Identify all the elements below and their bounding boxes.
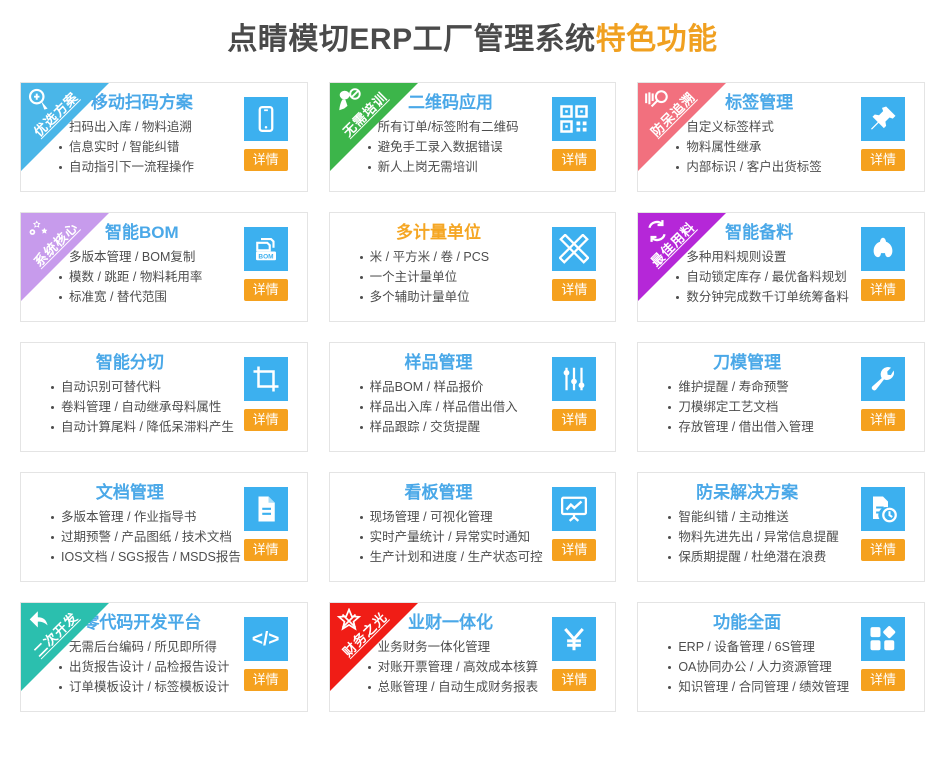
sliders-icon bbox=[552, 357, 596, 401]
detail-button[interactable]: 详情 bbox=[244, 409, 288, 431]
svg-text:BOM: BOM bbox=[258, 254, 273, 261]
feature-card: 智能分切自动识别可替代料卷料管理 / 自动继承母料属性自动计算尾料 / 降低呆滞… bbox=[20, 342, 308, 452]
card-title: 文档管理 bbox=[96, 482, 164, 504]
feature-page: 点睛模切ERP工厂管理系统特色功能 优选方案移动扫码方案扫码出入库 / 物料追溯… bbox=[0, 0, 945, 769]
list-item: 出货报告设计 / 品检报告设计 bbox=[59, 657, 229, 677]
mobile-phone-icon bbox=[244, 97, 288, 141]
card-aside: 详情 bbox=[545, 227, 603, 301]
list-item: 业务财务一体化管理 bbox=[368, 637, 538, 657]
detail-button[interactable]: 详情 bbox=[552, 149, 596, 171]
list-item: 信息实时 / 智能纠错 bbox=[59, 137, 194, 157]
list-item: 内部标识 / 客户出货标签 bbox=[676, 157, 821, 177]
list-item: 无需后台编码 / 所见即所得 bbox=[59, 637, 229, 657]
list-item: 知识管理 / 合同管理 / 绩效管理 bbox=[668, 677, 849, 697]
list-item: 自动计算尾料 / 降低呆滞料产生 bbox=[51, 417, 234, 437]
card-feature-list: 业务财务一体化管理对账开票管理 / 高效成本核算总账管理 / 自动生成财务报表 bbox=[368, 637, 538, 697]
list-item: 一个主计量单位 bbox=[360, 267, 489, 287]
card-feature-list: 自动识别可替代料卷料管理 / 自动继承母料属性自动计算尾料 / 降低呆滞料产生 bbox=[51, 377, 234, 437]
list-item: 自动锁定库存 / 最优备料规划 bbox=[676, 267, 849, 287]
detail-button[interactable]: 详情 bbox=[552, 409, 596, 431]
card-aside: 详情 bbox=[854, 97, 912, 171]
card-feature-list: 多版本管理 / BOM复制模数 / 跳距 / 物料耗用率标准宽 / 替代范围 bbox=[59, 247, 202, 307]
card-title: 智能分切 bbox=[96, 352, 164, 374]
list-item: 样品BOM / 样品报价 bbox=[360, 377, 518, 397]
list-item: ERP / 设备管理 / 6S管理 bbox=[668, 637, 849, 657]
card-aside: </>详情 bbox=[237, 617, 295, 691]
list-item: 总账管理 / 自动生成财务报表 bbox=[368, 677, 538, 697]
list-item: 物料属性继承 bbox=[676, 137, 821, 157]
yen-currency-icon bbox=[552, 617, 596, 661]
card-title: 二维码应用 bbox=[408, 92, 493, 114]
list-item: 存放管理 / 借出借入管理 bbox=[668, 417, 813, 437]
list-item: 多版本管理 / BOM复制 bbox=[59, 247, 202, 267]
feature-card: 看板管理现场管理 / 可视化管理实时产量统计 / 异常实时通知生产计划和进度 /… bbox=[329, 472, 617, 582]
list-item: 数分钟完成数千订单统筹备料 bbox=[676, 287, 849, 307]
card-aside: 详情 bbox=[237, 357, 295, 431]
page-title-accent: 特色功能 bbox=[596, 23, 718, 56]
list-item: 智能纠错 / 主动推送 bbox=[668, 507, 838, 527]
wrench-icon bbox=[861, 357, 905, 401]
list-item: 订单模板设计 / 标签模板设计 bbox=[59, 677, 229, 697]
card-title: 看板管理 bbox=[404, 482, 472, 504]
card-feature-list: 所有订单/标签附有二维码避免手工录入数据错误新人上岗无需培训 bbox=[368, 117, 519, 177]
page-title-main: 点睛模切ERP工厂管理系统 bbox=[227, 23, 595, 56]
list-item: 米 / 平方米 / 卷 / PCS bbox=[360, 247, 489, 267]
card-feature-list: ERP / 设备管理 / 6S管理OA协同办公 / 人力资源管理知识管理 / 合… bbox=[668, 637, 849, 697]
list-item: 物料先进先出 / 异常信息提醒 bbox=[668, 527, 838, 547]
feature-card: 样品管理样品BOM / 样品报价样品出入库 / 样品借出借入样品跟踪 / 交货提… bbox=[329, 342, 617, 452]
crop-tool-icon bbox=[244, 357, 288, 401]
list-item: 所有订单/标签附有二维码 bbox=[368, 117, 519, 137]
card-title: 多计量单位 bbox=[396, 222, 481, 244]
detail-button[interactable]: 详情 bbox=[552, 669, 596, 691]
list-item: 多版本管理 / 作业指导书 bbox=[51, 507, 241, 527]
dashboard-board-icon bbox=[552, 487, 596, 531]
card-aside: 详情 bbox=[854, 487, 912, 561]
list-item: 多种用料规则设置 bbox=[676, 247, 849, 267]
card-title: 样品管理 bbox=[404, 352, 472, 374]
list-item: 刀模绑定工艺文档 bbox=[668, 397, 813, 417]
card-feature-list: 多版本管理 / 作业指导书过期预警 / 产品图纸 / 技术文档IOS文档 / S… bbox=[51, 507, 241, 567]
detail-button[interactable]: 详情 bbox=[861, 279, 905, 301]
list-item: 新人上岗无需培训 bbox=[368, 157, 519, 177]
card-title: 业财一体化 bbox=[408, 612, 493, 634]
feature-card-grid: 优选方案移动扫码方案扫码出入库 / 物料追溯信息实时 / 智能纠错自动指引下一流… bbox=[0, 82, 945, 712]
material-prep-icon bbox=[861, 227, 905, 271]
list-item: 多个辅助计量单位 bbox=[360, 287, 489, 307]
card-feature-list: 米 / 平方米 / 卷 / PCS一个主计量单位多个辅助计量单位 bbox=[360, 247, 489, 307]
list-item: 避免手工录入数据错误 bbox=[368, 137, 519, 157]
card-feature-list: 自定义标签样式物料属性继承内部标识 / 客户出货标签 bbox=[676, 117, 821, 177]
crossed-rulers-icon bbox=[552, 227, 596, 271]
list-item: 扫码出入库 / 物料追溯 bbox=[59, 117, 194, 137]
list-item: 生产计划和进度 / 生产状态可控 bbox=[360, 547, 543, 567]
card-title: 零代码开发平台 bbox=[82, 612, 201, 634]
card-aside: 详情 bbox=[545, 487, 603, 561]
modules-grid-icon bbox=[861, 617, 905, 661]
card-feature-list: 扫码出入库 / 物料追溯信息实时 / 智能纠错自动指引下一流程操作 bbox=[59, 117, 194, 177]
list-item: 标准宽 / 替代范围 bbox=[59, 287, 202, 307]
card-title: 刀模管理 bbox=[713, 352, 781, 374]
card-feature-list: 维护提醒 / 寿命预警刀模绑定工艺文档存放管理 / 借出借入管理 bbox=[668, 377, 813, 437]
card-aside: BOM详情 bbox=[237, 227, 295, 301]
detail-button[interactable]: 详情 bbox=[861, 149, 905, 171]
detail-button[interactable]: 详情 bbox=[244, 669, 288, 691]
bom-document-icon: BOM bbox=[244, 227, 288, 271]
feature-card: 刀模管理维护提醒 / 寿命预警刀模绑定工艺文档存放管理 / 借出借入管理详情 bbox=[637, 342, 925, 452]
list-item: 现场管理 / 可视化管理 bbox=[360, 507, 543, 527]
list-item: 自动识别可替代料 bbox=[51, 377, 234, 397]
card-aside: 详情 bbox=[545, 97, 603, 171]
card-feature-list: 样品BOM / 样品报价样品出入库 / 样品借出借入样品跟踪 / 交货提醒 bbox=[360, 377, 518, 437]
feature-card: 防呆解决方案智能纠错 / 主动推送物料先进先出 / 异常信息提醒保质期提醒 / … bbox=[637, 472, 925, 582]
detail-button[interactable]: 详情 bbox=[552, 279, 596, 301]
feature-card: 防呆追溯标签管理自定义标签样式物料属性继承内部标识 / 客户出货标签详情 bbox=[637, 82, 925, 192]
detail-button[interactable]: 详情 bbox=[861, 669, 905, 691]
list-item: 模数 / 跳距 / 物料耗用率 bbox=[59, 267, 202, 287]
card-title: 标签管理 bbox=[725, 92, 793, 114]
feature-card: 文档管理多版本管理 / 作业指导书过期预警 / 产品图纸 / 技术文档IOS文档… bbox=[20, 472, 308, 582]
card-aside: 详情 bbox=[854, 357, 912, 431]
list-item: 维护提醒 / 寿命预警 bbox=[668, 377, 813, 397]
page-title: 点睛模切ERP工厂管理系统特色功能 bbox=[0, 0, 945, 58]
qr-code-icon bbox=[552, 97, 596, 141]
list-item: OA协同办公 / 人力资源管理 bbox=[668, 657, 849, 677]
detail-button[interactable]: 详情 bbox=[861, 539, 905, 561]
card-aside: 详情 bbox=[237, 97, 295, 171]
card-title: 移动扫码方案 bbox=[91, 92, 193, 114]
list-item: 样品出入库 / 样品借出借入 bbox=[360, 397, 518, 417]
list-item: 样品跟踪 / 交货提醒 bbox=[360, 417, 518, 437]
card-feature-list: 无需后台编码 / 所见即所得出货报告设计 / 品检报告设计订单模板设计 / 标签… bbox=[59, 637, 229, 697]
list-item: 对账开票管理 / 高效成本核算 bbox=[368, 657, 538, 677]
detail-button[interactable]: 详情 bbox=[861, 409, 905, 431]
list-item: IOS文档 / SGS报告 / MSDS报告 bbox=[51, 547, 241, 567]
card-feature-list: 多种用料规则设置自动锁定库存 / 最优备料规划数分钟完成数千订单统筹备料 bbox=[676, 247, 849, 307]
feature-card: 无需培训二维码应用所有订单/标签附有二维码避免手工录入数据错误新人上岗无需培训详… bbox=[329, 82, 617, 192]
card-aside: 详情 bbox=[854, 617, 912, 691]
list-item: 保质期提醒 / 杜绝潜在浪费 bbox=[668, 547, 838, 567]
feature-card: 多计量单位米 / 平方米 / 卷 / PCS一个主计量单位多个辅助计量单位详情 bbox=[329, 212, 617, 322]
detail-button[interactable]: 详情 bbox=[244, 149, 288, 171]
card-aside: 详情 bbox=[854, 227, 912, 301]
card-title: 功能全面 bbox=[713, 612, 781, 634]
card-title: 智能BOM bbox=[105, 222, 179, 244]
card-title: 防呆解决方案 bbox=[696, 482, 798, 504]
card-aside: 详情 bbox=[545, 617, 603, 691]
feature-card: 功能全面ERP / 设备管理 / 6S管理OA协同办公 / 人力资源管理知识管理… bbox=[637, 602, 925, 712]
detail-button[interactable]: 详情 bbox=[244, 539, 288, 561]
card-feature-list: 现场管理 / 可视化管理实时产量统计 / 异常实时通知生产计划和进度 / 生产状… bbox=[360, 507, 543, 567]
feature-card: 财务之光业财一体化业务财务一体化管理对账开票管理 / 高效成本核算总账管理 / … bbox=[329, 602, 617, 712]
push-pin-icon bbox=[861, 97, 905, 141]
detail-button[interactable]: 详情 bbox=[552, 539, 596, 561]
card-aside: 详情 bbox=[237, 487, 295, 561]
list-item: 卷料管理 / 自动继承母料属性 bbox=[51, 397, 234, 417]
feature-card: 二次开发零代码开发平台无需后台编码 / 所见即所得出货报告设计 / 品检报告设计… bbox=[20, 602, 308, 712]
list-item: 过期预警 / 产品图纸 / 技术文档 bbox=[51, 527, 241, 547]
code-brackets-icon: </> bbox=[244, 617, 288, 661]
card-aside: 详情 bbox=[545, 357, 603, 431]
list-item: 自动指引下一流程操作 bbox=[59, 157, 194, 177]
document-clock-icon bbox=[861, 487, 905, 531]
detail-button[interactable]: 详情 bbox=[244, 279, 288, 301]
feature-card: 优选方案移动扫码方案扫码出入库 / 物料追溯信息实时 / 智能纠错自动指引下一流… bbox=[20, 82, 308, 192]
document-icon bbox=[244, 487, 288, 531]
card-title: 智能备料 bbox=[725, 222, 793, 244]
list-item: 实时产量统计 / 异常实时通知 bbox=[360, 527, 543, 547]
card-feature-list: 智能纠错 / 主动推送物料先进先出 / 异常信息提醒保质期提醒 / 杜绝潜在浪费 bbox=[668, 507, 838, 567]
list-item: 自定义标签样式 bbox=[676, 117, 821, 137]
feature-card: 系统核心智能BOM多版本管理 / BOM复制模数 / 跳距 / 物料耗用率标准宽… bbox=[20, 212, 308, 322]
feature-card: 最佳用料智能备料多种用料规则设置自动锁定库存 / 最优备料规划数分钟完成数千订单… bbox=[637, 212, 925, 322]
